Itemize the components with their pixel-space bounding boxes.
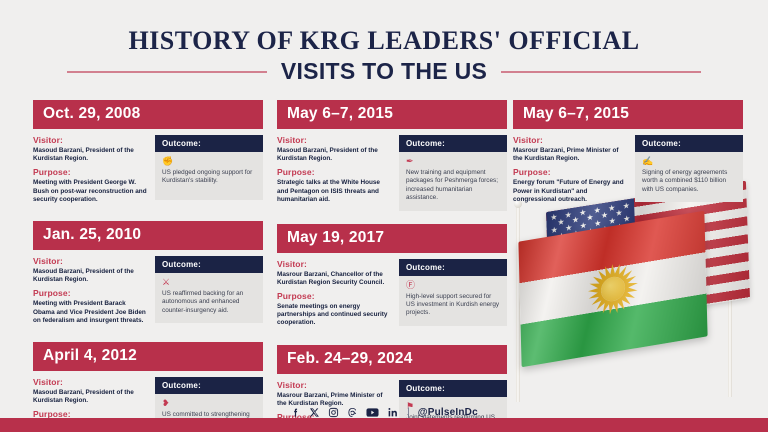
purpose-value: Senate meetings on energy partnerships a… xyxy=(277,303,393,328)
outcome-content: ⚔ US reaffirmed backing for an autonomou… xyxy=(155,273,263,323)
card-date: Oct. 29, 2008 xyxy=(33,100,263,129)
outcome-label: Outcome: xyxy=(155,256,263,273)
outcome-label: Outcome: xyxy=(399,135,507,152)
purpose-label: Purpose: xyxy=(33,288,149,299)
card-details: Visitor: Masoud Barzani, President of th… xyxy=(277,135,399,211)
outcome-text: US reaffirmed backing for an autonomous … xyxy=(162,290,256,315)
timeline-card[interactable]: May 19, 2017 Visitor: Masrour Barzani, C… xyxy=(277,224,507,332)
title-rule-left xyxy=(67,71,267,73)
visitor-value: Masoud Barzani, President of the Kurdist… xyxy=(33,268,149,284)
outcome-label: Outcome: xyxy=(399,259,507,276)
x-twitter-icon[interactable] xyxy=(309,407,320,418)
purpose-value: Energy forum "Future of Energy and Power… xyxy=(513,179,629,204)
outcome-label: Outcome: xyxy=(399,380,507,397)
visitor-value: Masrour Barzani, Prime Minister of the K… xyxy=(513,147,629,163)
visitor-value: Masoud Barzani, President of the Kurdist… xyxy=(33,389,149,405)
card-date: May 6–7, 2015 xyxy=(513,100,743,129)
outcome-text: US pledged ongoing support for Kurdistan… xyxy=(162,169,256,186)
column-3: May 6–7, 2015 Visitor: Masrour Barzani, … xyxy=(513,100,743,221)
card-details: Visitor: Masoud Barzani, President of th… xyxy=(33,256,155,329)
card-body: Visitor: Masrour Barzani, Chancellor of … xyxy=(277,259,507,332)
purpose-label: Purpose: xyxy=(33,167,149,178)
timeline-card[interactable]: Oct. 29, 2008 Visitor: Masoud Barzani, P… xyxy=(33,100,263,208)
purpose-value: Strategic talks at the White House and P… xyxy=(277,179,393,204)
outcome-panel: Outcome: ⚔ US reaffirmed backing for an … xyxy=(155,256,263,329)
outcome-content: ✊ US pledged ongoing support for Kurdist… xyxy=(155,152,263,200)
purpose-value: Meeting with President Barack Obama and … xyxy=(33,300,149,325)
card-details: Visitor: Masoud Barzani, President of th… xyxy=(33,135,155,208)
card-date: Jan. 25, 2010 xyxy=(33,221,263,250)
signature-icon: ✍ xyxy=(642,156,736,167)
outcome-label: Outcome: xyxy=(155,377,263,394)
visitor-label: Visitor: xyxy=(33,377,149,388)
youtube-icon[interactable] xyxy=(366,407,379,418)
card-date: May 6–7, 2015 xyxy=(277,100,507,129)
card-date: May 19, 2017 xyxy=(277,224,507,253)
visitor-label: Visitor: xyxy=(33,256,149,267)
outcome-panel: Outcome: Ⓕ High-level support secured fo… xyxy=(399,259,507,332)
outcome-label: Outcome: xyxy=(635,135,743,152)
footer-separator: | xyxy=(407,407,410,418)
outcome-text: New training and equipment packages for … xyxy=(406,169,500,203)
linkedin-icon[interactable] xyxy=(387,407,399,418)
outcome-panel: Outcome: ✒ New training and equipment pa… xyxy=(399,135,507,211)
outcome-text: High-level support secured for US invest… xyxy=(406,293,500,318)
flags-image: ★★★★★★★★★★★★★★★★★★★★★★★★★★★★★★★★★★★★★★★★… xyxy=(504,192,754,402)
card-date: Feb. 24–29, 2024 xyxy=(277,345,507,374)
handshake-icon: ✊ xyxy=(162,156,256,167)
threads-icon[interactable] xyxy=(347,407,358,418)
facebook-icon[interactable] xyxy=(290,407,301,418)
title-line-1: HISTORY OF KRG LEADERS' OFFICIAL xyxy=(0,26,768,56)
title-rule-right xyxy=(501,71,701,73)
timeline-card[interactable]: May 6–7, 2015 Visitor: Masoud Barzani, P… xyxy=(277,100,507,211)
outcome-content: Ⓕ High-level support secured for US inve… xyxy=(399,276,507,326)
power-icon: Ⓕ xyxy=(406,280,500,291)
visitor-value: Masoud Barzani, President of the Kurdist… xyxy=(277,147,393,163)
visitor-label: Visitor: xyxy=(513,135,629,146)
visitor-label: Visitor: xyxy=(277,380,393,391)
visitor-value: Masrour Barzani, Prime Minister of the K… xyxy=(277,392,393,408)
instagram-icon[interactable] xyxy=(328,407,339,418)
outcome-text: Signing of energy agreements worth a com… xyxy=(642,169,736,194)
visitor-value: Masoud Barzani, President of the Kurdist… xyxy=(33,147,149,163)
outcome-panel: Outcome: ✍ Signing of energy agreements … xyxy=(635,135,743,208)
visitor-label: Visitor: xyxy=(277,259,393,270)
title-row-2: VISITS TO THE US xyxy=(0,58,768,85)
card-body: Visitor: Masoud Barzani, President of th… xyxy=(33,135,263,208)
page-title: HISTORY OF KRG LEADERS' OFFICIAL VISITS … xyxy=(0,26,768,85)
card-date: April 4, 2012 xyxy=(33,342,263,371)
outcome-content: ✒ New training and equipment packages fo… xyxy=(399,152,507,211)
card-body: Visitor: Masoud Barzani, President of th… xyxy=(277,135,507,211)
social-footer: | @PulseInDc xyxy=(0,407,768,418)
timeline-card[interactable]: May 6–7, 2015 Visitor: Masrour Barzani, … xyxy=(513,100,743,208)
purpose-label: Purpose: xyxy=(277,167,393,178)
card-details: Visitor: Masrour Barzani, Chancellor of … xyxy=(277,259,399,332)
visitor-label: Visitor: xyxy=(33,135,149,146)
visitor-value: Masrour Barzani, Chancellor of the Kurdi… xyxy=(277,271,393,287)
column-1: Oct. 29, 2008 Visitor: Masoud Barzani, P… xyxy=(33,100,263,432)
social-handle[interactable]: @PulseInDc xyxy=(418,407,478,418)
card-body: Visitor: Masoud Barzani, President of th… xyxy=(33,256,263,329)
column-2: May 6–7, 2015 Visitor: Masoud Barzani, P… xyxy=(277,100,507,432)
card-details: Visitor: Masrour Barzani, Prime Minister… xyxy=(513,135,635,208)
outcome-content: ✍ Signing of energy agreements worth a c… xyxy=(635,152,743,202)
bottom-accent-bar xyxy=(0,418,768,432)
purpose-label: Purpose: xyxy=(277,291,393,302)
card-body: Visitor: Masrour Barzani, Prime Minister… xyxy=(513,135,743,208)
timeline-card[interactable]: Jan. 25, 2010 Visitor: Masoud Barzani, P… xyxy=(33,221,263,329)
purpose-label: Purpose: xyxy=(513,167,629,178)
rifle-icon: ✒ xyxy=(406,156,500,167)
title-line-2: VISITS TO THE US xyxy=(281,58,487,85)
visitor-label: Visitor: xyxy=(277,135,393,146)
shield-icon: ⚔ xyxy=(162,277,256,288)
outcome-label: Outcome: xyxy=(155,135,263,152)
outcome-panel: Outcome: ✊ US pledged ongoing support fo… xyxy=(155,135,263,208)
purpose-value: Meeting with President George W. Bush on… xyxy=(33,179,149,204)
